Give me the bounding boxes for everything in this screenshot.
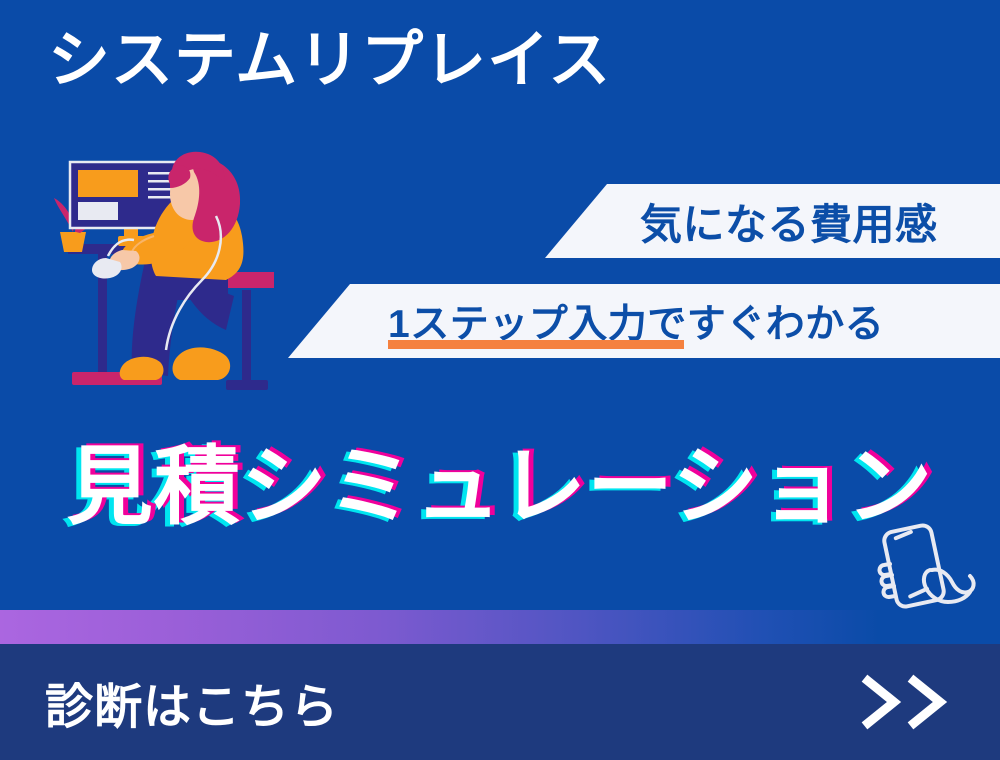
hand-holding-phone-icon <box>872 518 984 618</box>
woman-at-desk-illustration <box>30 140 290 400</box>
promo-banner: システムリプレイス <box>0 0 1000 760</box>
page-title: システムリプレイス <box>48 28 611 93</box>
badge-cost-label: 気になる費用感 <box>640 191 938 252</box>
gradient-divider <box>0 610 1000 644</box>
headline-group: 見積シミュレーション 見積シミュレーション 見積シミュレーション <box>0 432 1000 542</box>
headline: 見積シミュレーション <box>0 432 1000 542</box>
double-chevron-right-icon[interactable] <box>860 673 952 731</box>
badge-onestep-underline <box>388 340 684 349</box>
cta-label: 診断はこちら <box>45 667 339 737</box>
cta-bar[interactable]: 診断はこちら <box>0 644 1000 760</box>
badge-cost: 気になる費用感 <box>545 184 1000 258</box>
